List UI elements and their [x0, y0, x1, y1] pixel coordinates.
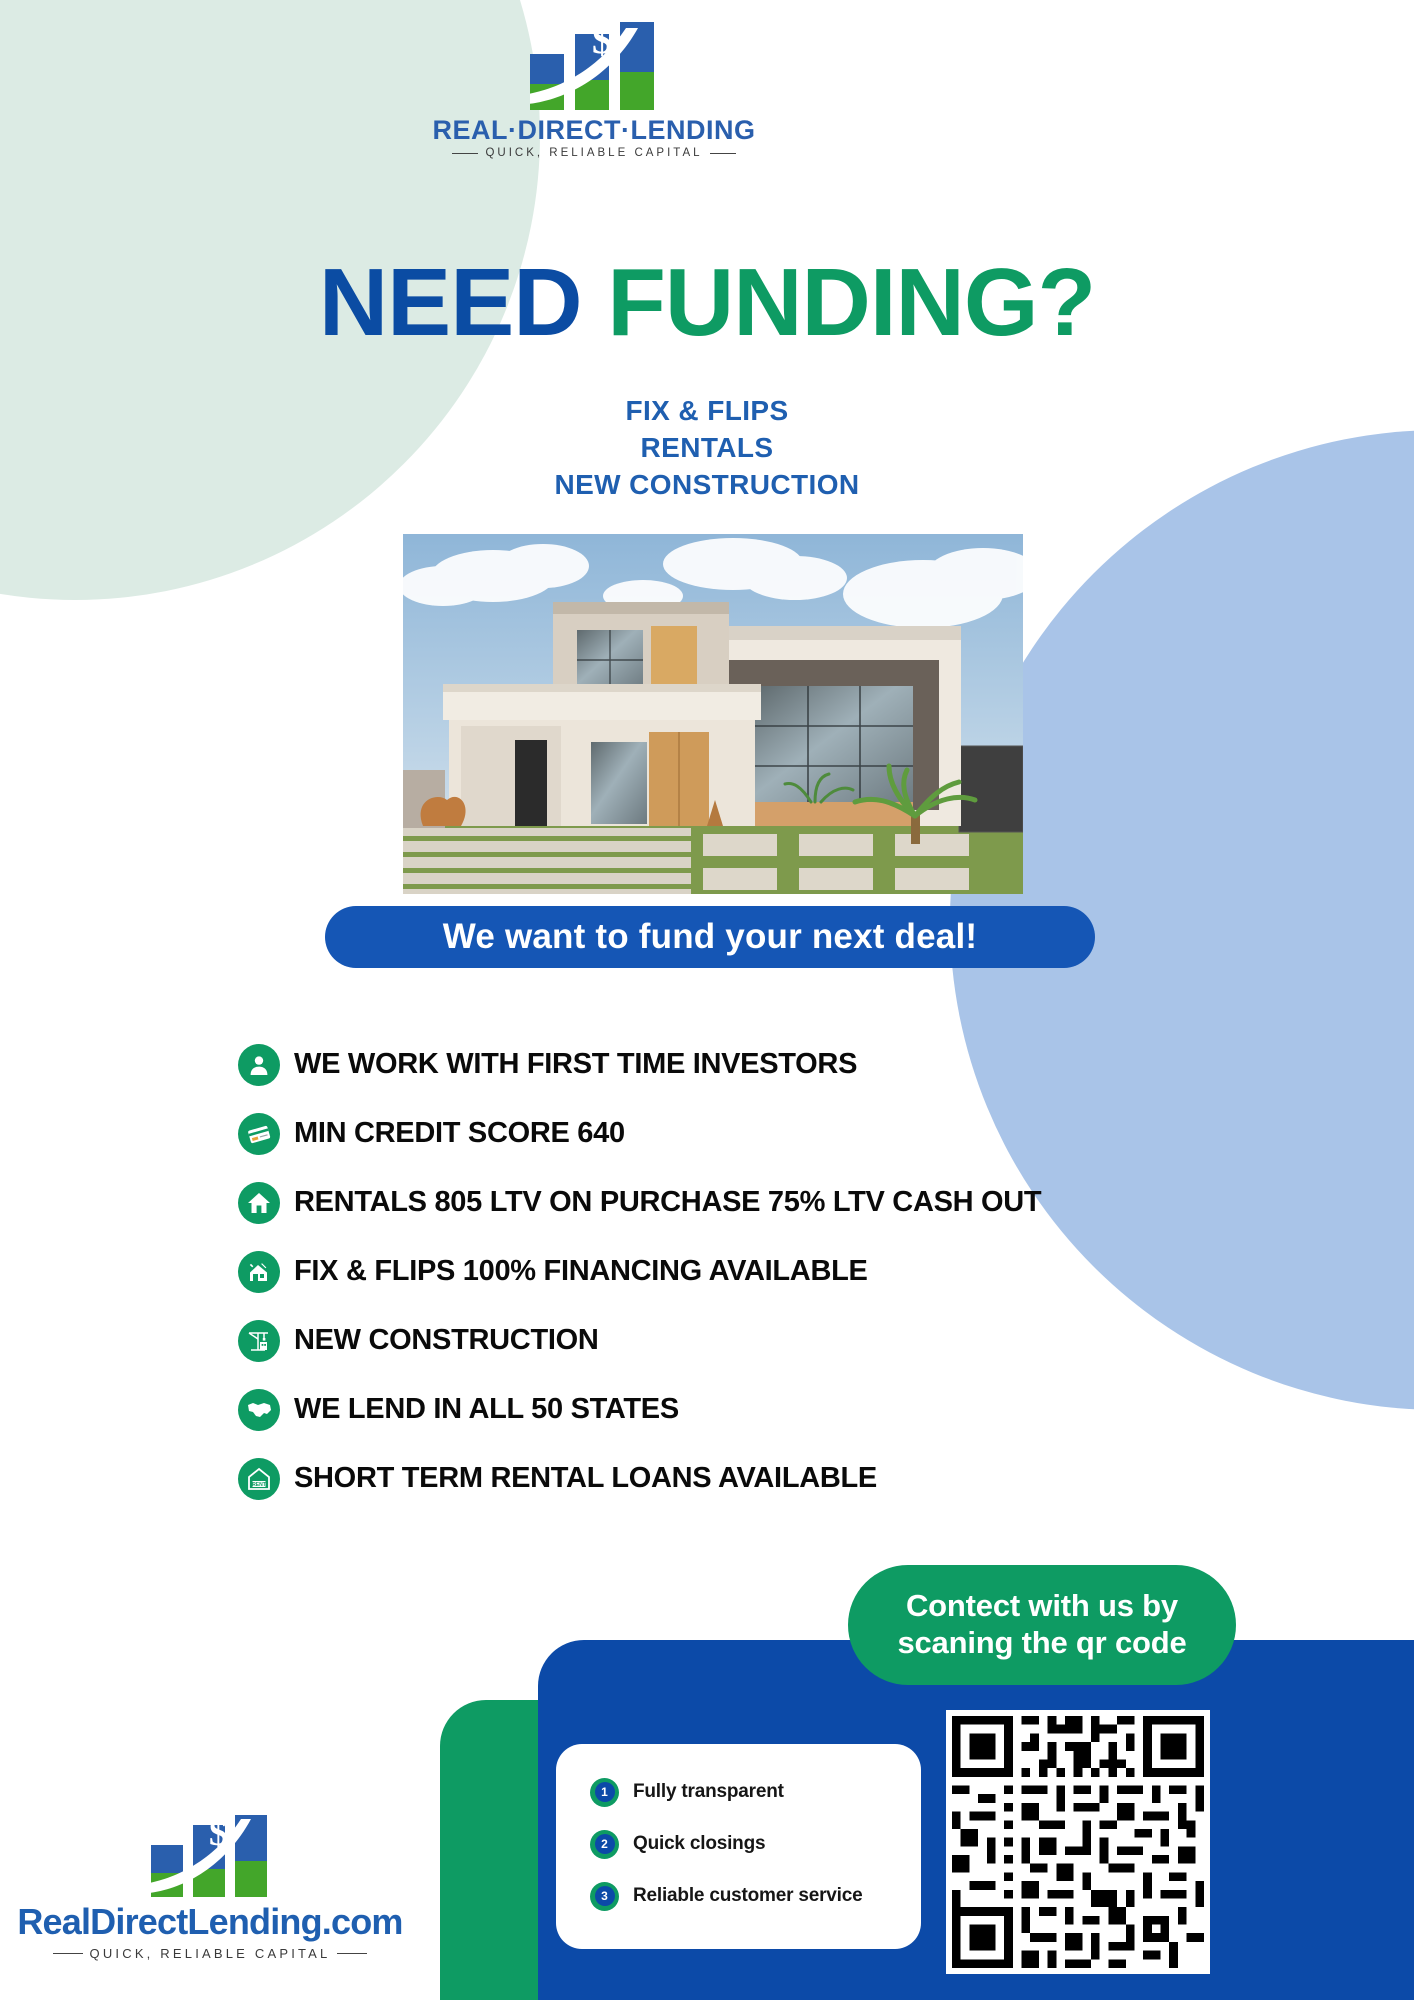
logo-bar-3	[620, 22, 654, 110]
crane-icon	[238, 1320, 280, 1362]
list-item-label: NEW CONSTRUCTION	[294, 1324, 599, 1357]
qr-cta-line-1: Contect with us by	[906, 1588, 1178, 1623]
footer-logo-tagline-row: QUICK, RELIABLE CAPITAL	[10, 1946, 410, 1961]
list-item: WE LEND IN ALL 50 STATES	[238, 1375, 1248, 1444]
usa-map-icon	[238, 1389, 280, 1431]
header-logo: $ REAL·DIRECT·LENDING QUICK, RELIABLE CA…	[404, 22, 784, 159]
subheading-line-1: FIX & FLIPS	[0, 393, 1414, 430]
list-item-label: SHORT TERM RENTAL LOANS AVAILABLE	[294, 1462, 877, 1495]
logo-dollar-icon: $	[592, 20, 612, 60]
benefit-label: Fully transparent	[633, 1781, 784, 1803]
subheading-line-2: RENTALS	[0, 430, 1414, 467]
tagline-rule-left	[452, 153, 478, 154]
list-item: NEW CONSTRUCTION	[238, 1306, 1248, 1375]
person-icon	[238, 1044, 280, 1086]
list-item: RENTALS 805 LTV ON PURCHASE 75% LTV CASH…	[238, 1168, 1248, 1237]
list-item: RENT SHORT TERM RENTAL LOANS AVAILABLE	[238, 1444, 1248, 1513]
house-icon	[238, 1182, 280, 1224]
number-badge-1: 1	[590, 1778, 619, 1807]
house-repair-icon	[238, 1251, 280, 1293]
subheading-line-3: NEW CONSTRUCTION	[0, 467, 1414, 504]
footer-logo-name: RealDirectLending.com	[10, 1901, 410, 1943]
number-badge-3: 3	[590, 1882, 619, 1911]
number-badge-label: 2	[595, 1834, 615, 1854]
benefit-label: Reliable customer service	[633, 1885, 862, 1907]
headline-word-need: NEED	[319, 249, 582, 356]
header-logo-name: REAL·DIRECT·LENDING	[404, 116, 784, 144]
feature-bullet-list: WE WORK WITH FIRST TIME INVESTORS MIN CR…	[238, 1030, 1248, 1513]
logo-bar-chart-icon: $	[530, 22, 658, 110]
page-title: NEED FUNDING?	[0, 255, 1414, 351]
list-item-label: WE WORK WITH FIRST TIME INVESTORS	[294, 1048, 857, 1081]
flyer-page: $ REAL·DIRECT·LENDING QUICK, RELIABLE CA…	[0, 0, 1414, 2000]
tagline-rule-right	[710, 153, 736, 154]
logo-bar-3	[235, 1815, 267, 1897]
number-badge-2: 2	[590, 1830, 619, 1859]
list-item-label: MIN CREDIT SCORE 640	[294, 1117, 625, 1150]
house-illustration	[403, 534, 1023, 894]
list-item: FIX & FLIPS 100% FINANCING AVAILABLE	[238, 1237, 1248, 1306]
svg-text:RENT: RENT	[252, 1481, 266, 1487]
benefit-label: Quick closings	[633, 1833, 765, 1855]
ribbon-banner: We want to fund your next deal!	[325, 906, 1095, 968]
list-item-label: WE LEND IN ALL 50 STATES	[294, 1393, 679, 1426]
subheading-list: FIX & FLIPS RENTALS NEW CONSTRUCTION	[0, 393, 1414, 504]
headline-word-funding: FUNDING?	[607, 249, 1095, 356]
rent-sign-icon: RENT	[238, 1458, 280, 1500]
header-logo-tagline-row: QUICK, RELIABLE CAPITAL	[404, 147, 784, 159]
list-item-label: RENTALS 805 LTV ON PURCHASE 75% LTV CASH…	[294, 1186, 1041, 1219]
benefits-card: 1 Fully transparent 2 Quick closings 3 R…	[556, 1744, 921, 1949]
number-badge-label: 3	[595, 1886, 615, 1906]
logo-dollar-icon: $	[209, 1815, 228, 1852]
footer-logo-tagline: QUICK, RELIABLE CAPITAL	[90, 1946, 331, 1961]
logo-bar-1	[530, 54, 564, 110]
list-item-label: FIX & FLIPS 100% FINANCING AVAILABLE	[294, 1255, 868, 1288]
footer-logo: $ RealDirectLending.com QUICK, RELIABLE …	[10, 1815, 410, 1961]
number-badge-label: 1	[595, 1782, 615, 1802]
list-item: 3 Reliable customer service	[556, 1870, 921, 1922]
logo-bar-1	[151, 1845, 183, 1897]
list-item: 1 Fully transparent	[556, 1766, 921, 1818]
qr-code-icon	[952, 1716, 1204, 1968]
credit-card-icon	[238, 1113, 280, 1155]
list-item: 2 Quick closings	[556, 1818, 921, 1870]
tagline-rule-left	[53, 1953, 83, 1954]
qr-code[interactable]	[946, 1710, 1210, 1974]
tagline-rule-right	[337, 1953, 367, 1954]
hero-house-photo	[403, 534, 1023, 894]
qr-cta-line-2: scaning the qr code	[897, 1625, 1186, 1660]
header-logo-tagline: QUICK, RELIABLE CAPITAL	[485, 147, 702, 159]
list-item: WE WORK WITH FIRST TIME INVESTORS	[238, 1030, 1248, 1099]
list-item: MIN CREDIT SCORE 640	[238, 1099, 1248, 1168]
qr-cta-pill: Contect with us by scaning the qr code	[848, 1565, 1236, 1685]
logo-bar-chart-icon: $	[151, 1815, 269, 1897]
